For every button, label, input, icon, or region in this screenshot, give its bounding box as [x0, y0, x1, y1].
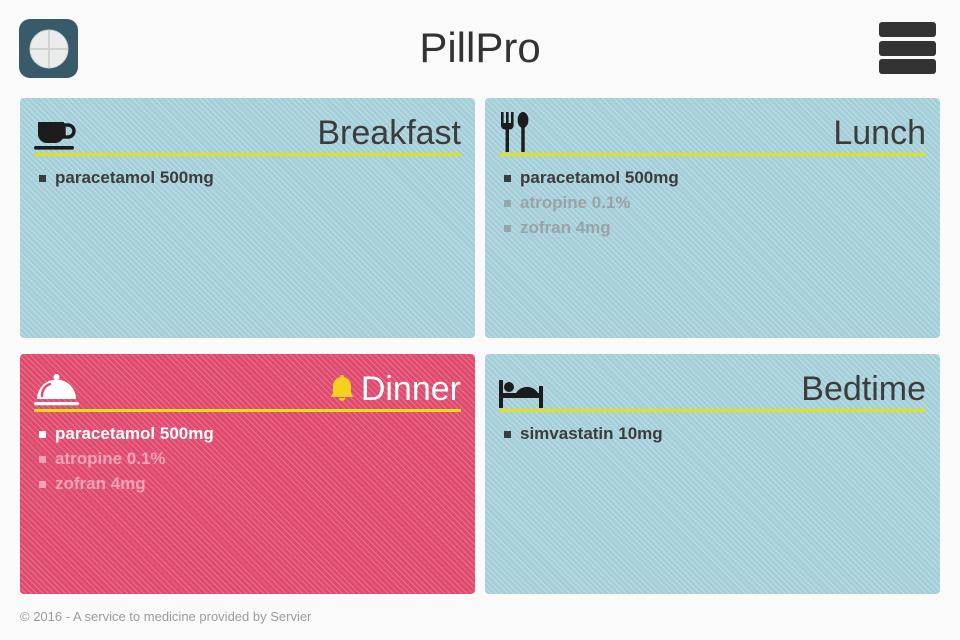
- medication-name: paracetamol 500mg: [55, 421, 214, 446]
- meal-title-lunch: Lunch: [833, 114, 926, 152]
- app-header: PillPro: [0, 0, 960, 96]
- medication-item[interactable]: paracetamol 500mg: [499, 165, 926, 190]
- medication-name: atropine 0.1%: [55, 446, 166, 471]
- meal-card-lunch[interactable]: Lunch paracetamol 500mg atropine 0.1% zo…: [485, 98, 940, 338]
- medication-item[interactable]: paracetamol 500mg: [34, 165, 461, 190]
- medication-list-bedtime: simvastatin 10mg: [499, 421, 926, 446]
- bullet-icon: [39, 456, 46, 463]
- menu-bar-bottom: [879, 59, 936, 74]
- meal-card-bedtime[interactable]: Bedtime simvastatin 10mg: [485, 354, 940, 594]
- hamburger-menu-icon[interactable]: [879, 19, 936, 77]
- footer-copyright: © 2016 - A service to medicine provided …: [20, 608, 311, 626]
- meal-card-breakfast[interactable]: Breakfast paracetamol 500mg: [20, 98, 475, 338]
- meal-cards-grid: Breakfast paracetamol 500mg: [20, 98, 940, 594]
- menu-bar-top: [879, 22, 936, 37]
- card-header-bedtime: Bedtime: [499, 368, 926, 412]
- medication-item[interactable]: atropine 0.1%: [34, 446, 461, 471]
- bed-icon: [499, 367, 545, 409]
- medication-item[interactable]: simvastatin 10mg: [499, 421, 926, 446]
- card-header-lunch: Lunch: [499, 112, 926, 156]
- meal-title-dinner: Dinner: [361, 370, 461, 408]
- card-title-group-lunch: Lunch: [833, 114, 926, 153]
- bullet-icon: [504, 175, 511, 182]
- medication-list-lunch: paracetamol 500mg atropine 0.1% zofran 4…: [499, 165, 926, 240]
- medication-name: atropine 0.1%: [520, 190, 631, 215]
- medication-list-dinner: paracetamol 500mg atropine 0.1% zofran 4…: [34, 421, 461, 496]
- card-title-group-breakfast: Breakfast: [317, 114, 461, 153]
- medication-name: zofran 4mg: [520, 215, 611, 240]
- medication-item[interactable]: paracetamol 500mg: [34, 421, 461, 446]
- bell-icon: [329, 375, 355, 403]
- bullet-icon: [39, 431, 46, 438]
- bullet-icon: [504, 431, 511, 438]
- bullet-icon: [39, 481, 46, 488]
- menu-bar-middle: [879, 41, 936, 56]
- meal-card-dinner[interactable]: Dinner paracetamol 500mg atropine 0.1% z…: [20, 354, 475, 594]
- medication-item[interactable]: zofran 4mg: [34, 471, 461, 496]
- medication-list-breakfast: paracetamol 500mg: [34, 165, 461, 190]
- card-header-breakfast: Breakfast: [34, 112, 461, 156]
- bullet-icon: [39, 175, 46, 182]
- fork-spoon-icon: [499, 111, 531, 153]
- card-title-group-bedtime: Bedtime: [801, 370, 926, 409]
- coffee-cup-icon: [34, 111, 76, 153]
- medication-item[interactable]: zofran 4mg: [499, 215, 926, 240]
- meal-title-bedtime: Bedtime: [801, 370, 926, 408]
- medication-item[interactable]: atropine 0.1%: [499, 190, 926, 215]
- medication-name: zofran 4mg: [55, 471, 146, 496]
- bullet-icon: [504, 225, 511, 232]
- medication-name: paracetamol 500mg: [520, 165, 679, 190]
- bullet-icon: [504, 200, 511, 207]
- medication-name: paracetamol 500mg: [55, 165, 214, 190]
- card-title-group-dinner: Dinner: [329, 370, 461, 409]
- app-title: PillPro: [0, 22, 960, 74]
- meal-title-breakfast: Breakfast: [317, 114, 461, 152]
- card-header-dinner: Dinner: [34, 368, 461, 412]
- medication-name: simvastatin 10mg: [520, 421, 663, 446]
- cloche-icon: [34, 367, 80, 409]
